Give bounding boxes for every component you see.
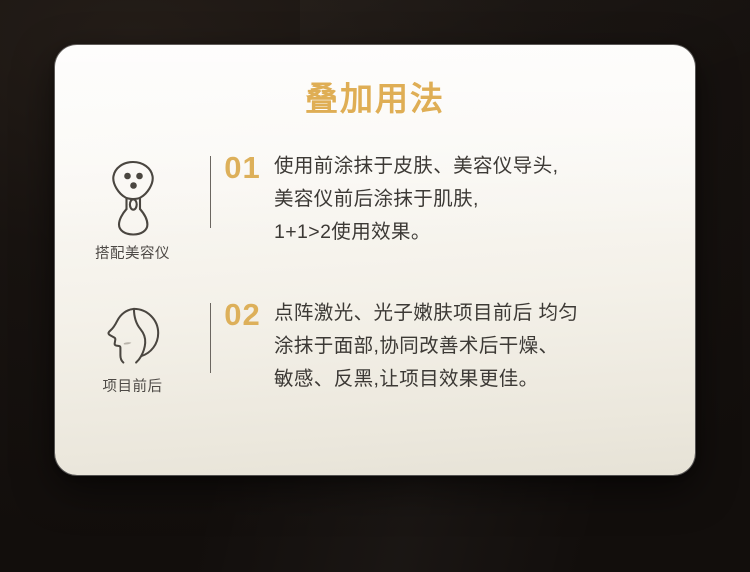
step-1-number: 01: [211, 151, 274, 185]
usage-card: 叠加用法: [55, 45, 695, 475]
step-2-icon-label: 项目前后: [103, 378, 163, 396]
step-2-icon-column: 项目前后: [55, 297, 210, 396]
face-profile-icon: [102, 301, 164, 371]
step-1-text: 使用前涂抹于皮肤、美容仪导头, 美容仪前后涂抹于肌肤, 1+1>2使用效果。: [274, 150, 695, 249]
step-1-line-2: 美容仪前后涂抹于肌肤,: [274, 183, 677, 216]
screenshot-root: 叠加用法: [0, 0, 750, 572]
step-1-icon-column: 搭配美容仪: [55, 150, 210, 263]
step-1-line-1: 使用前涂抹于皮肤、美容仪导头,: [274, 150, 677, 183]
step-2-line-2: 涂抹于面部,协同改善术后干燥、: [274, 330, 677, 363]
step-2-line-1: 点阵激光、光子嫩肤项目前后 均匀: [274, 297, 677, 330]
step-1-icon-label: 搭配美容仪: [95, 245, 170, 263]
step-1-line-3: 1+1>2使用效果。: [274, 216, 677, 249]
step-2-number: 02: [211, 298, 274, 332]
page-title: 叠加用法: [55, 80, 695, 118]
usage-step-row-2: 项目前后 02 点阵激光、光子嫩肤项目前后 均匀 涂抹于面部,协同改善术后干燥、…: [55, 297, 695, 396]
card-content: 叠加用法: [55, 45, 695, 475]
step-2-text: 点阵激光、光子嫩肤项目前后 均匀 涂抹于面部,协同改善术后干燥、 敏感、反黑,让…: [274, 297, 695, 396]
usage-step-row-1: 搭配美容仪 01 使用前涂抹于皮肤、美容仪导头, 美容仪前后涂抹于肌肤, 1+1…: [55, 150, 695, 263]
beauty-device-icon: [102, 154, 164, 238]
step-2-line-3: 敏感、反黑,让项目效果更佳。: [274, 363, 677, 396]
